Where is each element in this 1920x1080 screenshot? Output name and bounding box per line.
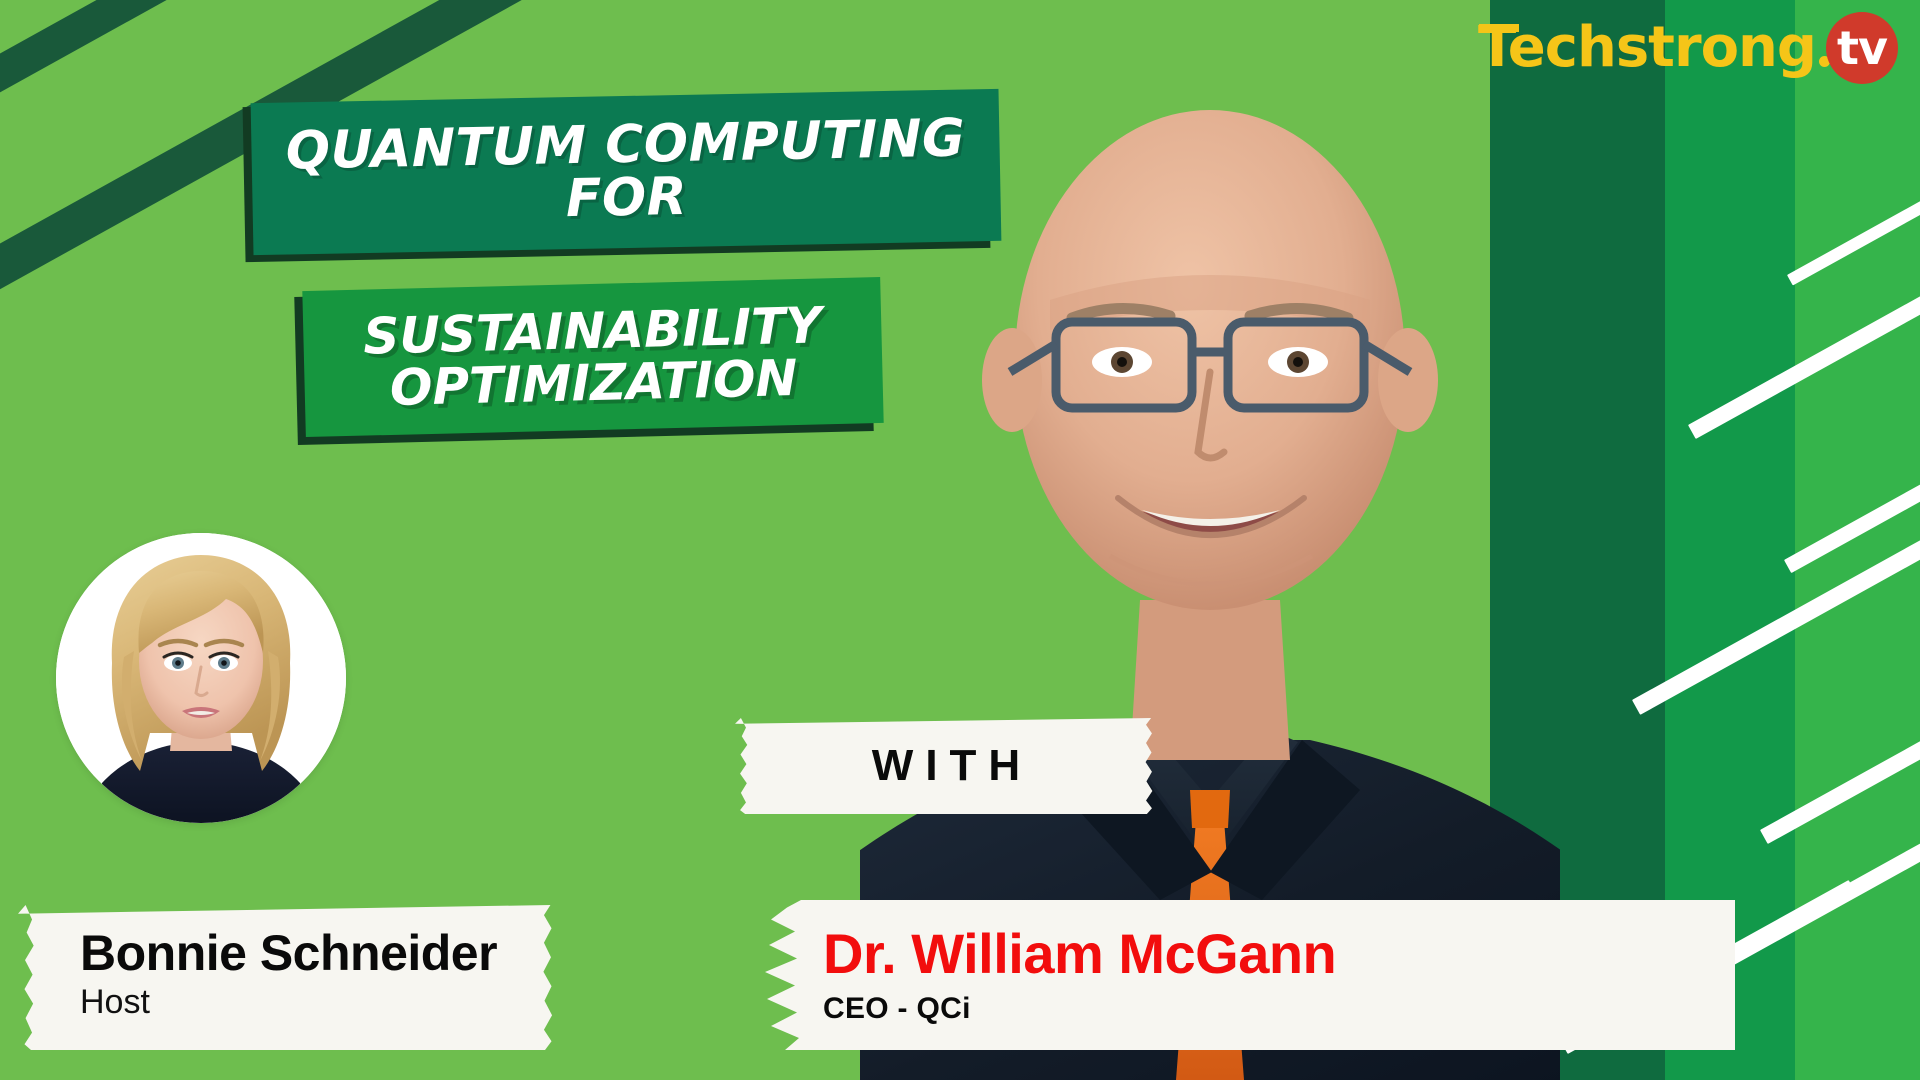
title-line-2: SUSTAINABILITY OPTIMIZATION <box>303 298 883 416</box>
host-avatar <box>56 533 346 823</box>
host-role: Host <box>80 982 497 1023</box>
title-banner-secondary: SUSTAINABILITY OPTIMIZATION <box>302 277 883 437</box>
with-ribbon: WITH <box>735 718 1157 814</box>
logo-wordmark: Techstrong <box>1478 20 1816 76</box>
host-name-ribbon: Bonnie Schneider Host <box>18 905 558 1050</box>
logo-tv-text: tv <box>1837 25 1887 71</box>
techstrong-tv-logo[interactable]: Techstrong tv <box>1478 12 1898 84</box>
guest-name-block: Dr. William McGann CEO - QCi <box>823 924 1336 1027</box>
guest-name: Dr. William McGann <box>823 924 1336 983</box>
logo-word-text: Techstrong <box>1478 15 1816 80</box>
with-label: WITH <box>860 741 1032 791</box>
guest-name-ribbon: Dr. William McGann CEO - QCi <box>735 900 1735 1050</box>
guest-role: CEO - QCi <box>823 991 1336 1027</box>
title-banner-primary: QUANTUM COMPUTING FOR <box>251 89 1002 255</box>
logo-t-bar-icon <box>1479 24 1519 32</box>
video-title-card: Techstrong tv QUANTUM COMPUTING FOR SUST… <box>0 0 1920 1080</box>
logo-circle-icon: tv <box>1826 12 1898 84</box>
host-portrait <box>56 533 346 823</box>
title-line-1: QUANTUM COMPUTING FOR <box>251 112 1001 232</box>
host-name-block: Bonnie Schneider Host <box>80 927 497 1023</box>
host-name: Bonnie Schneider <box>80 927 497 980</box>
